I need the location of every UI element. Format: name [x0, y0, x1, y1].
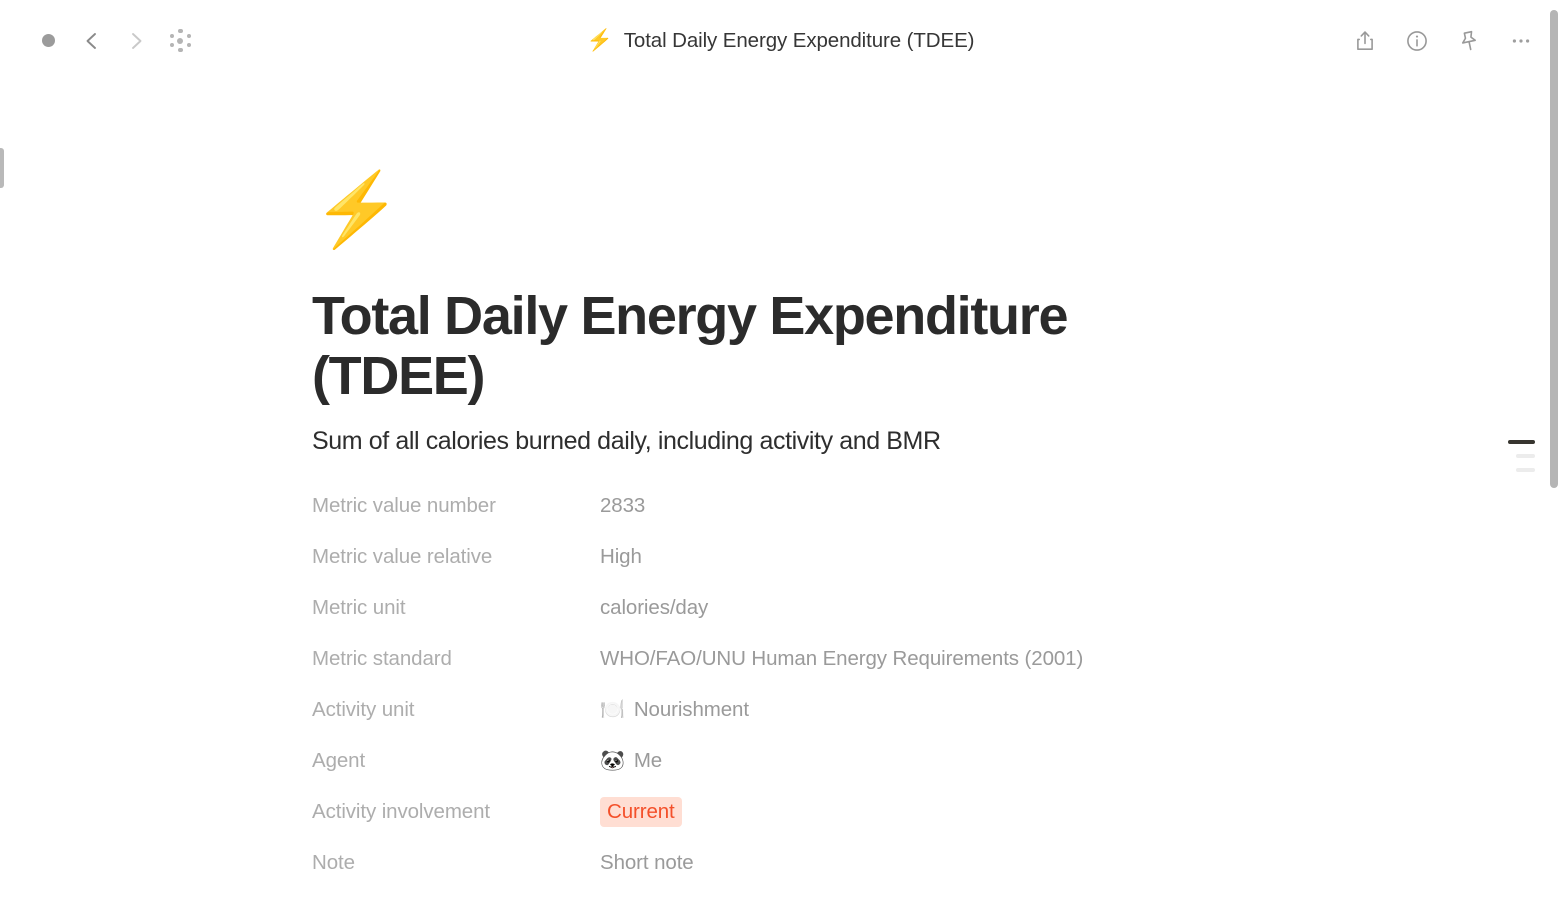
top-bar-right-controls	[1345, 21, 1541, 61]
info-circle-icon	[1405, 29, 1429, 53]
top-bar: ⚡ Total Daily Energy Expenditure (TDEE)	[0, 0, 1561, 81]
property-row[interactable]: Metric value number2833	[312, 480, 1541, 531]
top-bar-title-group: ⚡ Total Daily Energy Expenditure (TDEE)	[0, 29, 1561, 53]
property-value-text: Nourishment	[634, 698, 749, 722]
property-value-text: Me	[634, 749, 662, 773]
top-bar-page-title[interactable]: Total Daily Energy Expenditure (TDEE)	[624, 29, 975, 53]
property-value[interactable]: High	[600, 545, 642, 569]
page-title[interactable]: Total Daily Energy Expenditure (TDEE)	[312, 286, 1112, 407]
property-label[interactable]: Metric unit	[312, 596, 600, 620]
top-bar-left-controls	[0, 19, 202, 63]
property-row[interactable]: NoteShort note	[312, 837, 1541, 888]
status-dot-icon	[42, 34, 55, 47]
property-row[interactable]: Agent🐼Me	[312, 735, 1541, 786]
property-value-emoji-icon: 🍽️	[600, 700, 625, 720]
page-content-area: ⚡ Total Daily Energy Expenditure (TDEE) …	[0, 81, 1541, 923]
property-value-text: Short note	[600, 851, 694, 875]
property-value-text: calories/day	[600, 596, 708, 620]
status-dot-button[interactable]	[26, 19, 70, 63]
apps-grid-button[interactable]	[158, 19, 202, 63]
property-value[interactable]: 2833	[600, 494, 645, 518]
properties-table: Metric value number2833Metric value rela…	[312, 480, 1541, 888]
chevron-left-icon	[81, 30, 103, 52]
status-badge[interactable]: Current	[600, 797, 682, 827]
app-window: ⚡ Total Daily Energy Expenditure (TDEE)	[0, 0, 1561, 923]
more-options-button[interactable]	[1501, 21, 1541, 61]
property-value-text: 2833	[600, 494, 645, 518]
property-value[interactable]: Short note	[600, 851, 694, 875]
page-subtitle[interactable]: Sum of all calories burned daily, includ…	[312, 425, 1541, 458]
scrollbar-thumb[interactable]	[1550, 10, 1558, 488]
page-lightning-bolt-icon[interactable]: ⚡	[312, 167, 402, 253]
outline-line[interactable]	[1516, 454, 1535, 458]
property-value[interactable]: calories/day	[600, 596, 708, 620]
property-value[interactable]: 🍽️Nourishment	[600, 698, 749, 722]
pin-icon	[1457, 29, 1481, 53]
outline-line[interactable]	[1516, 468, 1535, 472]
property-label[interactable]: Note	[312, 851, 600, 875]
page-inner: ⚡ Total Daily Energy Expenditure (TDEE) …	[0, 81, 1541, 888]
vertical-scrollbar[interactable]	[1548, 0, 1561, 923]
pin-button[interactable]	[1449, 21, 1489, 61]
outline-line[interactable]	[1508, 440, 1535, 444]
property-label[interactable]: Metric value number	[312, 494, 600, 518]
property-label[interactable]: Activity unit	[312, 698, 600, 722]
forward-button[interactable]	[114, 19, 158, 63]
property-row[interactable]: Metric standardWHO/FAO/UNU Human Energy …	[312, 633, 1541, 684]
property-value-emoji-icon: 🐼	[600, 751, 625, 771]
property-value-text: WHO/FAO/UNU Human Energy Requirements (2…	[600, 647, 1083, 671]
property-row[interactable]: Metric unitcalories/day	[312, 582, 1541, 633]
ellipsis-icon	[1509, 29, 1533, 53]
property-label[interactable]: Metric standard	[312, 647, 600, 671]
property-value[interactable]: WHO/FAO/UNU Human Energy Requirements (2…	[600, 647, 1083, 671]
back-button[interactable]	[70, 19, 114, 63]
property-label[interactable]: Agent	[312, 749, 600, 773]
chevron-right-icon	[125, 30, 147, 52]
property-value-text: High	[600, 545, 642, 569]
lightning-bolt-icon: ⚡	[587, 30, 613, 51]
info-button[interactable]	[1397, 21, 1437, 61]
property-row[interactable]: Activity involvementCurrent	[312, 786, 1541, 837]
property-label[interactable]: Metric value relative	[312, 545, 600, 569]
dots-grid-icon	[167, 28, 193, 54]
share-upload-icon	[1353, 29, 1377, 53]
property-value[interactable]: 🐼Me	[600, 749, 662, 773]
outline-indicator	[1508, 440, 1535, 472]
share-button[interactable]	[1345, 21, 1385, 61]
property-row[interactable]: Metric value relativeHigh	[312, 531, 1541, 582]
property-value[interactable]: Current	[600, 797, 682, 827]
property-row[interactable]: Activity unit🍽️Nourishment	[312, 684, 1541, 735]
property-label[interactable]: Activity involvement	[312, 800, 600, 824]
